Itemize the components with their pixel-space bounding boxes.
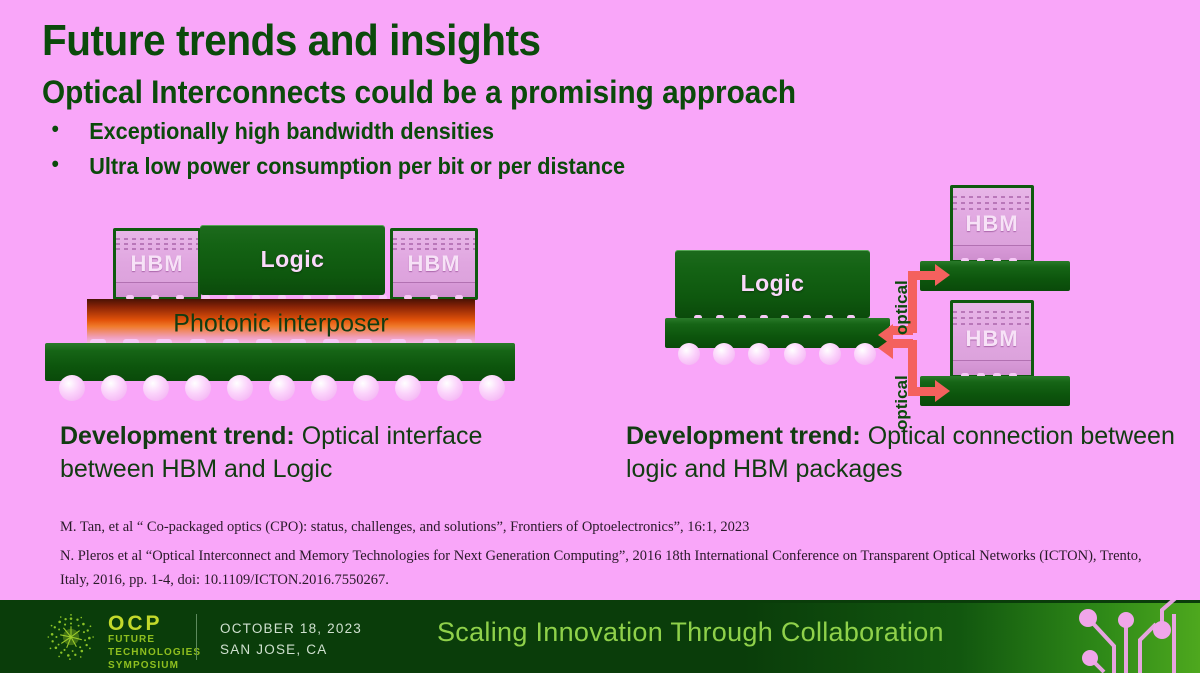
footer-tagline: Scaling Innovation Through Collaboration (437, 617, 944, 648)
hbm-stack-top: HBM (950, 185, 1034, 263)
hbm-die-stack: HBM (116, 231, 198, 297)
reference-item: M. Tan, et al “ Co-packaged optics (CPO)… (60, 516, 1150, 539)
optical-link-bottom-horizontal (908, 387, 938, 396)
footer-rule (0, 600, 1200, 603)
right-caption: Development trend: Optical connection be… (626, 420, 1186, 486)
footer-bar: OCP FUTURE TECHNOLOGIES SYMPOSIUM OCTOBE… (0, 600, 1200, 673)
list-item: Ultra low power consumption per bit or p… (46, 153, 625, 180)
logic-label: Logic (200, 246, 385, 273)
list-item: Exceptionally high bandwidth densities (46, 118, 625, 145)
page-subtitle: Optical Interconnects could be a promisi… (42, 74, 796, 111)
solder-ball-row (671, 343, 883, 369)
ocp-sub-line-1: FUTURE (108, 634, 201, 647)
hbm-label: HBM (953, 326, 1031, 352)
arrow-head-to-top-hbm (935, 264, 950, 286)
right-package-diagram: Logic HBM (665, 185, 1085, 405)
hbm-stack-bottom: HBM (950, 300, 1034, 378)
ocp-sub-line-2: TECHNOLOGIES (108, 647, 201, 660)
right-caption-bold: Development trend: (626, 422, 861, 450)
left-caption-bold: Development trend: (60, 422, 295, 450)
event-date: OCTOBER 18, 2023 (220, 619, 362, 640)
photonic-interposer-label: Photonic interposer (87, 309, 475, 338)
hbm-die-stack: HBM (953, 303, 1031, 375)
optical-link-top-horizontal (908, 271, 938, 280)
hbm-label: HBM (116, 251, 198, 277)
bullet-list: Exceptionally high bandwidth densities U… (46, 118, 662, 188)
circuit-trace-graphic (1070, 600, 1200, 673)
page-title: Future trends and insights (42, 16, 541, 66)
solder-ball-row (51, 375, 513, 403)
event-info: OCTOBER 18, 2023 SAN JOSE, CA (220, 619, 362, 661)
optical-link-bottom-stub (889, 339, 913, 348)
logic-die: Logic (200, 225, 385, 295)
left-package-diagram: HBM Logic HBM Photonic interposer (45, 215, 555, 400)
footer-divider (196, 614, 197, 660)
left-caption: Development trend: Optical interface bet… (60, 420, 580, 486)
hbm-label: HBM (393, 251, 475, 277)
hbm-die-stack: HBM (393, 231, 475, 297)
optical-label-top: optical (892, 280, 912, 335)
logic-die: Logic (675, 250, 870, 318)
hbm-stack-right: HBM (390, 228, 478, 300)
references-block: M. Tan, et al “ Co-packaged optics (CPO)… (60, 516, 1150, 598)
arrow-head-to-bottom-hbm (935, 380, 950, 402)
hbm-label: HBM (953, 211, 1031, 237)
hbm-stack-left: HBM (113, 228, 201, 300)
slide-canvas: Future trends and insights Optical Inter… (0, 0, 1200, 673)
logic-label: Logic (675, 270, 870, 297)
ocp-logo-icon (44, 610, 98, 664)
hbm-die-stack: HBM (953, 188, 1031, 260)
ocp-sub-line-3: SYMPOSIUM (108, 660, 201, 673)
ocp-brand: OCP (108, 613, 163, 634)
reference-item: N. Pleros et al “Optical Interconnect an… (60, 545, 1150, 592)
ocp-brand-subtitle: FUTURE TECHNOLOGIES SYMPOSIUM (108, 634, 201, 672)
event-location: SAN JOSE, CA (220, 640, 362, 661)
